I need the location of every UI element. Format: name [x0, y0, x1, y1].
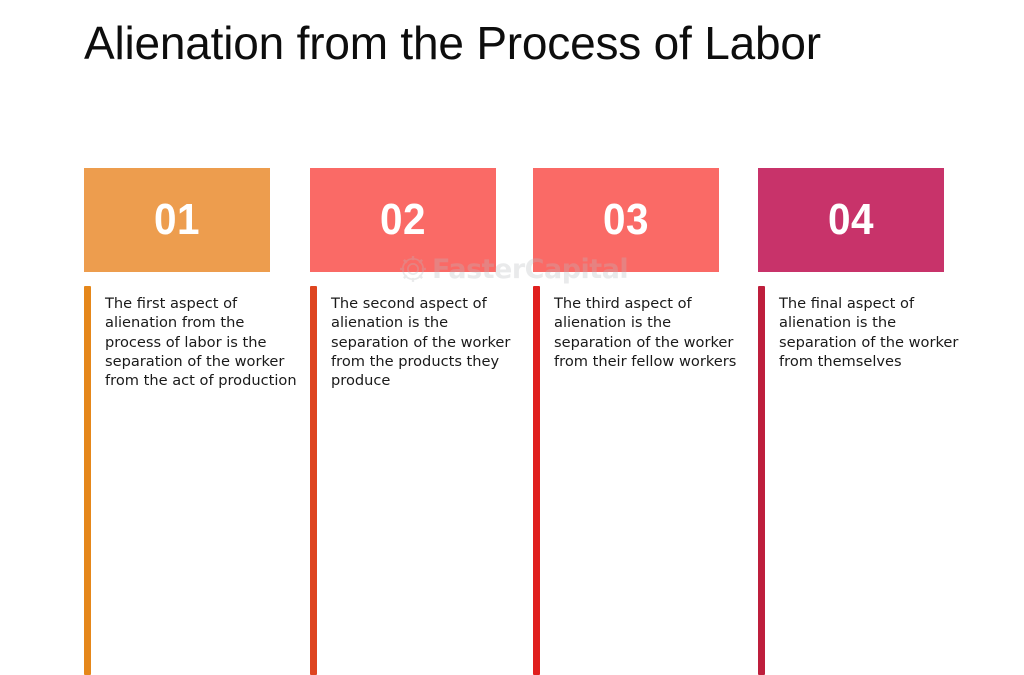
- step-number-2: 02: [380, 198, 426, 242]
- step-bar-2: [310, 286, 317, 675]
- slide-canvas: Alienation from the Process of Labor 01 …: [0, 0, 1024, 576]
- step-number-3: 03: [603, 198, 649, 242]
- step-card-1: 01: [84, 168, 270, 272]
- step-card-4: 04: [758, 168, 944, 272]
- step-bar-4: [758, 286, 765, 675]
- steps-container: 01 The first aspect of alienation from t…: [0, 0, 1024, 576]
- step-bar-1: [84, 286, 91, 675]
- step-bar-3: [533, 286, 540, 675]
- step-number-4: 04: [828, 198, 874, 242]
- step-description-2: The second aspect of alienation is the s…: [331, 294, 527, 390]
- step-description-3: The third aspect of alienation is the se…: [554, 294, 750, 371]
- step-description-1: The first aspect of alienation from the …: [105, 294, 301, 390]
- step-card-2: 02: [310, 168, 496, 272]
- step-description-4: The final aspect of alienation is the se…: [779, 294, 975, 371]
- step-number-1: 01: [154, 198, 200, 242]
- step-card-3: 03: [533, 168, 719, 272]
